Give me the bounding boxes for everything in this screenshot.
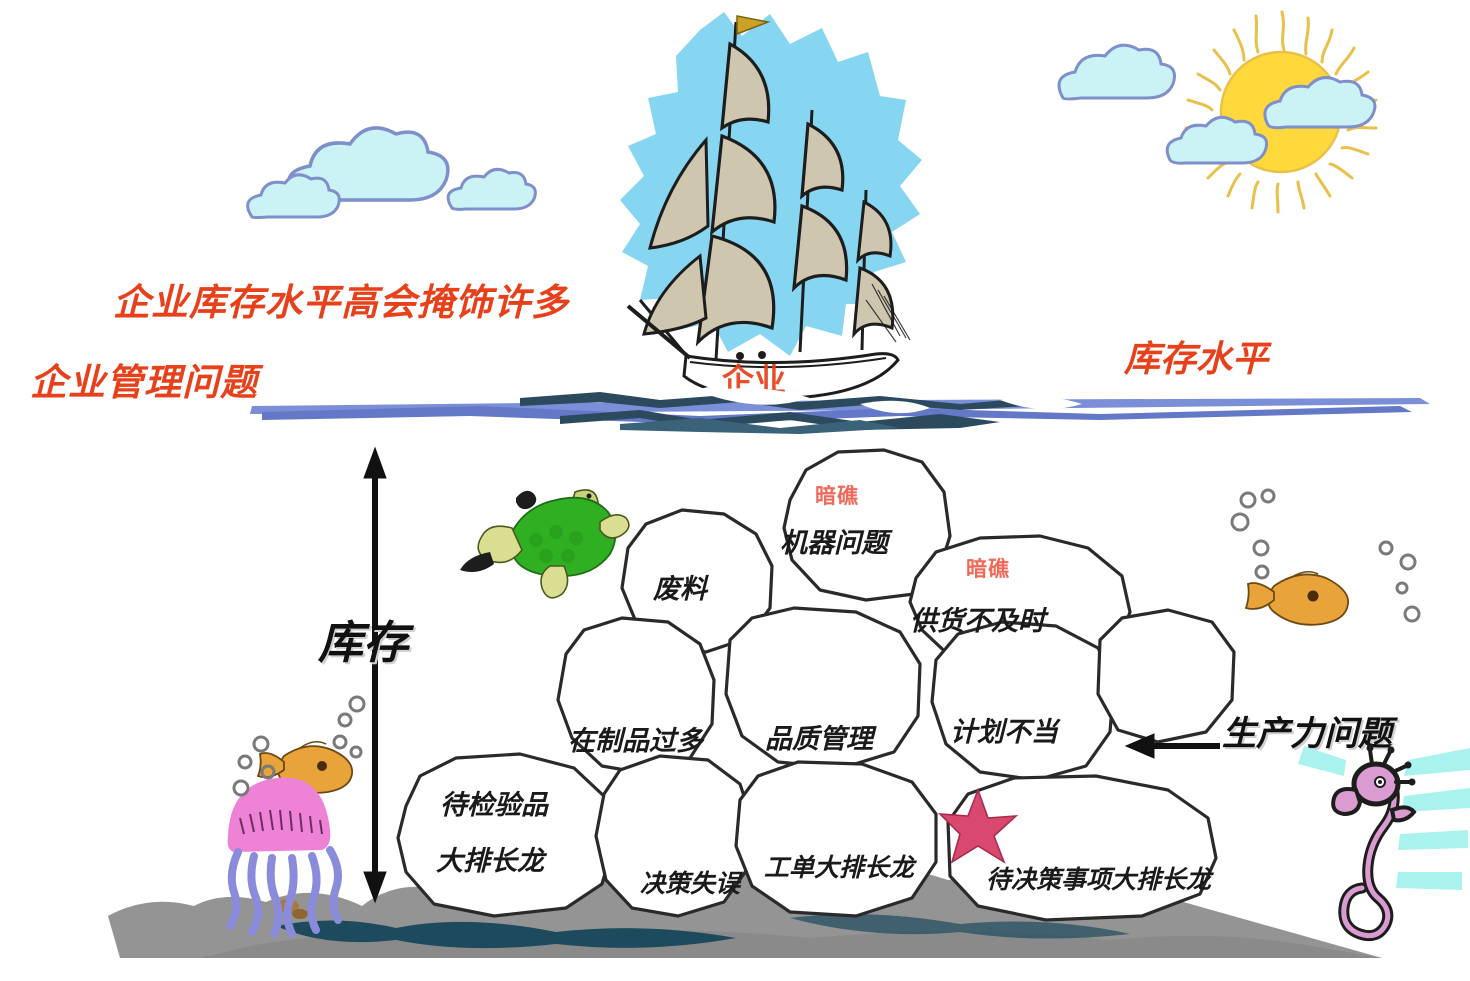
jellyfish-icon <box>228 777 338 934</box>
sea-life-layer <box>0 0 1470 981</box>
fish-right-icon <box>1246 572 1348 625</box>
sea-turtle-icon <box>460 490 629 598</box>
diagram-canvas: 企业 企业库存水平高会掩饰许多 企业管理问题 库存水平 <box>0 0 1470 981</box>
seahorse-icon <box>1298 745 1470 936</box>
starfish-icon <box>940 790 1016 862</box>
